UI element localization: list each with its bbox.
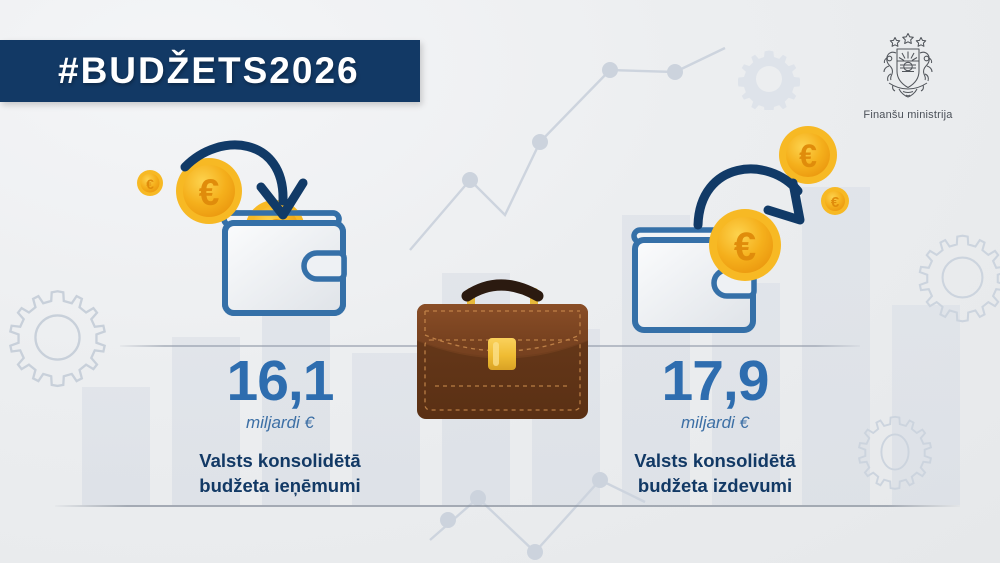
chart-baseline — [55, 505, 960, 507]
stat-label: Valsts konsolidētā budžeta ieņēmumi — [130, 449, 430, 499]
coin-small-icon: € — [137, 170, 163, 196]
coin-small-icon: € — [821, 187, 849, 215]
stat-label-line1: Valsts konsolidētā — [565, 449, 865, 474]
gear-outline-left — [5, 285, 110, 390]
svg-text:€: € — [831, 194, 840, 211]
wallet-arrow-in-icon: € € € — [125, 135, 370, 350]
title-banner: #BUDŽETS2026 — [0, 40, 420, 102]
page-title: #BUDŽETS2026 — [0, 50, 360, 92]
stat-label-line2: budžeta ieņēmumi — [130, 474, 430, 499]
svg-text:€: € — [146, 176, 154, 192]
stat-label-line1: Valsts konsolidētā — [130, 449, 430, 474]
infographic-canvas: #BUDŽETS2026 — [0, 0, 1000, 563]
coin-icon: € — [779, 126, 837, 184]
svg-text:€: € — [799, 138, 817, 174]
svg-text:€: € — [199, 172, 220, 213]
logo-caption: Finanšu ministrija — [838, 109, 978, 121]
background-bar — [892, 305, 960, 505]
svg-text:€: € — [734, 225, 756, 269]
gear-outline-bottom-right — [855, 412, 935, 492]
stat-label: Valsts konsolidētā budžeta izdevumi — [565, 449, 865, 499]
gear-outline-right — [915, 230, 1000, 325]
stat-unit: miljardi € — [565, 413, 865, 433]
briefcase-clasp — [488, 338, 516, 370]
ministry-logo: Finanšu ministrija — [838, 28, 978, 121]
coin-icon: € — [709, 209, 781, 281]
stat-value: 16,1 — [130, 352, 430, 411]
stat-block-revenue: 16,1 miljardi € Valsts konsolidētā budže… — [130, 352, 430, 499]
latvia-coat-of-arms-icon — [869, 28, 947, 102]
stat-label-line2: budžeta izdevumi — [565, 474, 865, 499]
gear-solid-top — [738, 48, 800, 110]
stat-block-expenses: 17,9 miljardi € Valsts konsolidētā budže… — [565, 352, 865, 499]
wallet-arrow-out-icon: € € € — [620, 125, 860, 350]
stat-value: 17,9 — [565, 352, 865, 411]
stat-unit: miljardi € — [130, 413, 430, 433]
